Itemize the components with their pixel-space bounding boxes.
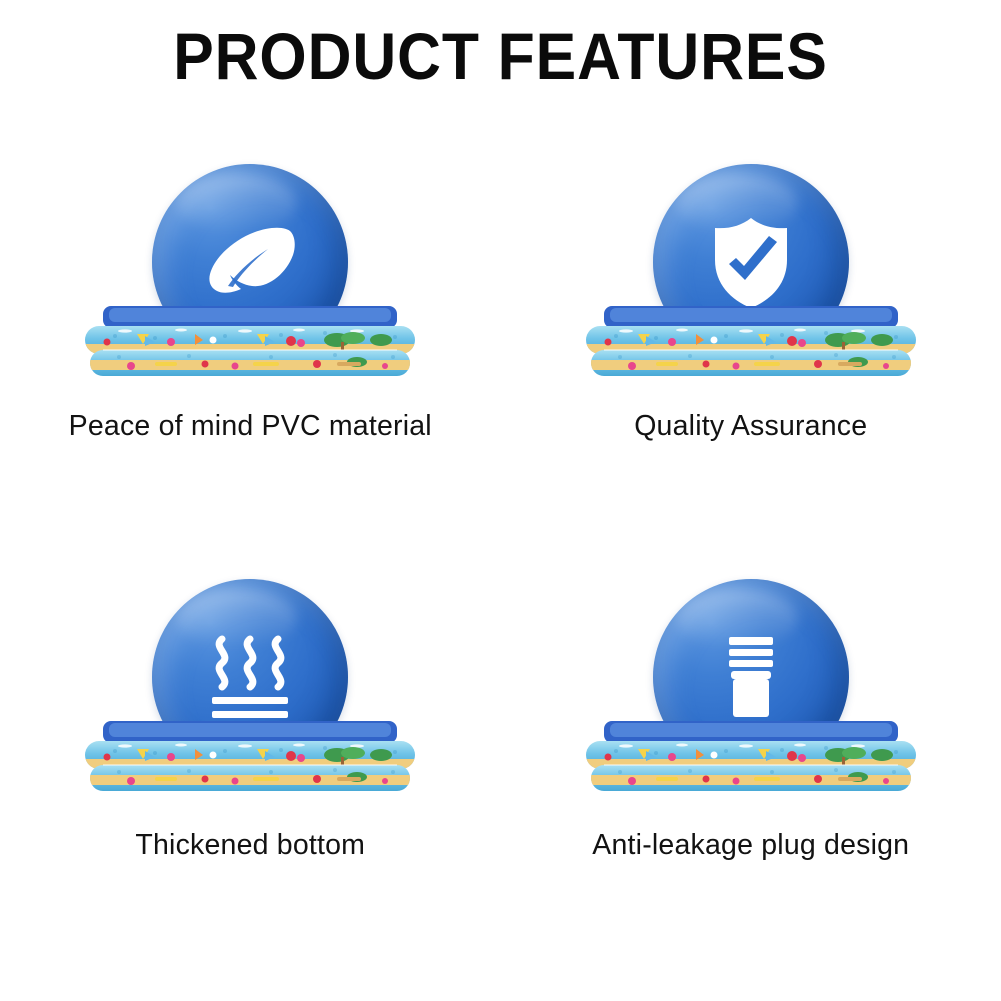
inflatable-pool-graphic [586, 715, 916, 797]
feature-illustration [581, 565, 921, 815]
features-grid: Peace of mind PVC material [0, 150, 1001, 980]
inflatable-pool-graphic [85, 300, 415, 382]
product-features-page: PRODUCT FEATURES [0, 0, 1001, 1001]
feature-illustration [581, 150, 921, 400]
feature-caption: Peace of mind PVC material [69, 410, 432, 443]
feature-item-pvc-material: Peace of mind PVC material [0, 150, 501, 565]
page-title: PRODUCT FEATURES [40, 22, 961, 92]
inflatable-pool-graphic [586, 300, 916, 382]
feature-caption: Thickened bottom [135, 829, 365, 862]
feature-caption: Anti-leakage plug design [592, 829, 909, 862]
feature-illustration [80, 565, 420, 815]
feature-item-quality-assurance: Quality Assurance [501, 150, 1001, 565]
inflatable-pool-graphic [85, 715, 415, 797]
feature-illustration [80, 150, 420, 400]
feature-item-anti-leakage-plug: Anti-leakage plug design [501, 565, 1001, 980]
feature-caption: Quality Assurance [634, 410, 867, 443]
feature-item-thickened-bottom: Thickened bottom [0, 565, 501, 980]
